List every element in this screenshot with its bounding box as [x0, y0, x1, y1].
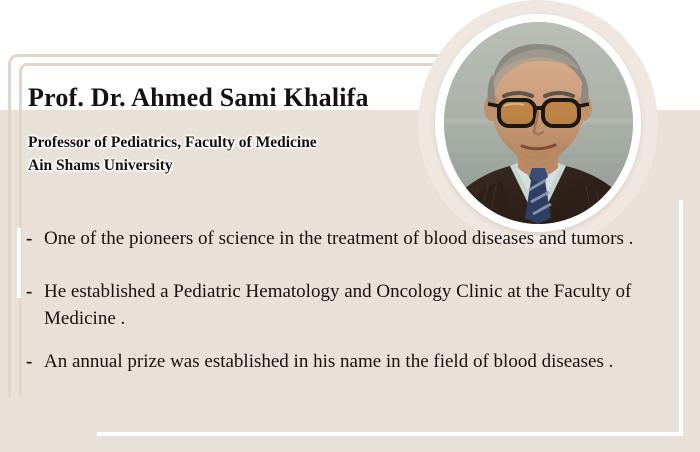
bottom-beige-strip: [0, 436, 700, 452]
page-title: Prof. Dr. Ahmed Sami Khalifa: [28, 83, 369, 113]
list-item-text: He established a Pediatric Hematology an…: [44, 278, 662, 332]
list-item: - He established a Pediatric Hematology …: [26, 278, 666, 332]
portrait-photo: [444, 22, 633, 224]
list-item: - An annual prize was established in his…: [26, 348, 666, 375]
accent-rule-right: [679, 200, 683, 435]
bullet-dash-icon: -: [26, 348, 44, 375]
bullet-dash-icon: -: [26, 278, 44, 305]
list-item-text: An annual prize was established in his n…: [44, 348, 656, 375]
achievements-list: - One of the pioneers of science in the …: [26, 225, 666, 391]
bullet-dash-icon: -: [26, 225, 44, 252]
affiliation-block: Professor of Pediatrics, Faculty of Medi…: [28, 131, 317, 177]
accent-rule-left: [17, 228, 21, 298]
profile-card: Prof. Dr. Ahmed Sami Khalifa Professor o…: [0, 0, 700, 452]
affiliation-line-2: Ain Shams University: [28, 154, 317, 177]
accent-rule-bottom: [97, 432, 683, 436]
affiliation-line-1: Professor of Pediatrics, Faculty of Medi…: [28, 131, 317, 154]
list-item-text: One of the pioneers of science in the tr…: [44, 225, 639, 252]
list-item: - One of the pioneers of science in the …: [26, 225, 666, 252]
